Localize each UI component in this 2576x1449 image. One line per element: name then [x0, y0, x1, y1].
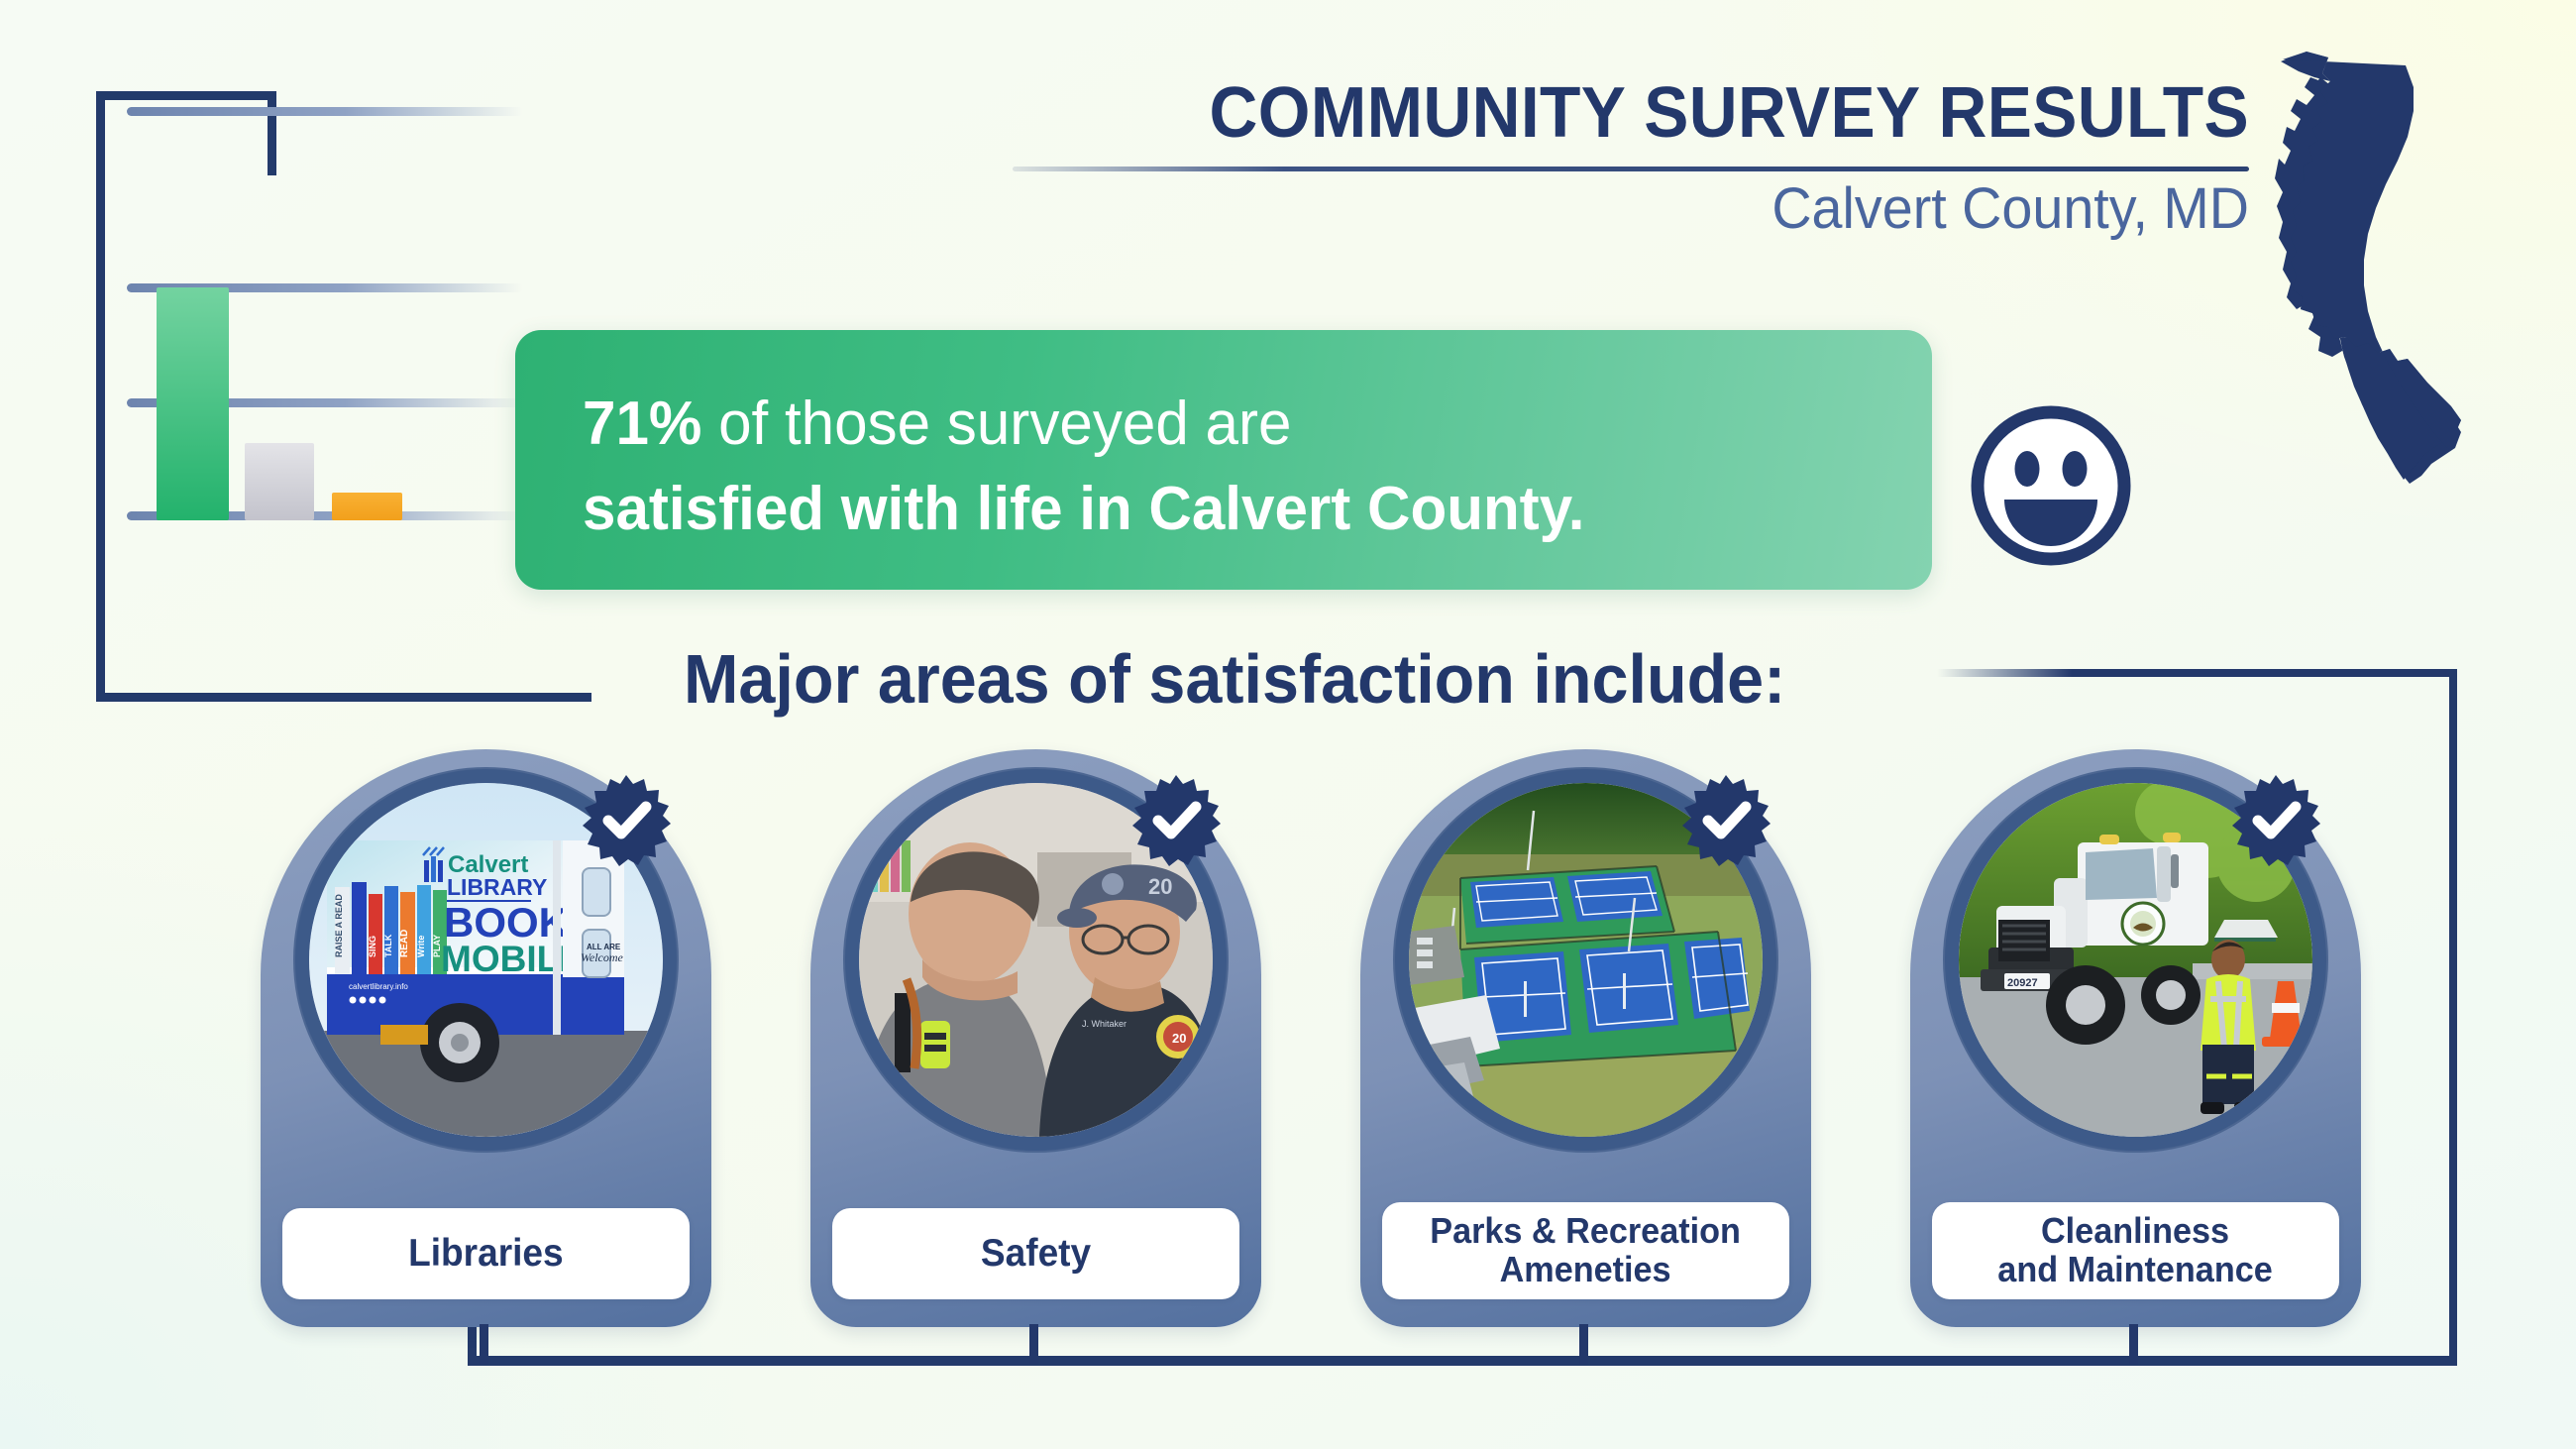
decorative-bar-chart — [119, 139, 545, 634]
gridline-top — [127, 107, 523, 116]
page-title: COMMUNITY SURVEY RESULTS — [1085, 77, 2249, 149]
frame-top-horizontal — [96, 91, 276, 100]
svg-text:RAISE A READ: RAISE A READ — [334, 894, 344, 957]
frame-right-horizontal — [1937, 669, 2457, 677]
svg-text:MOBILE: MOBILE — [441, 939, 584, 979]
card-photo-ring — [1393, 767, 1778, 1153]
card-photo-ring: RAISE A READ SING TALK READ Write PLAY C — [293, 767, 679, 1153]
check-seal-icon — [580, 773, 673, 866]
card-photo-ring: 20 20 J. Whitaker — [843, 767, 1229, 1153]
key-stat-percent: 71% — [583, 390, 701, 458]
svg-text:20927: 20927 — [2007, 977, 2038, 989]
svg-text:READ: READ — [399, 930, 410, 957]
card-label-text: Safety — [968, 1223, 1105, 1284]
svg-text:Welcome: Welcome — [581, 950, 624, 964]
key-stat-line-2: satisfied with life in Calvert County. — [583, 467, 1776, 552]
key-stat-text: 71% of those surveyed are satisfied with… — [583, 382, 1776, 551]
frame-bottom-horizontal — [96, 693, 591, 702]
card-photo-ring: 20927 — [1943, 767, 2328, 1153]
page-subtitle: Calvert County, MD — [1060, 179, 2249, 240]
card-label-parks-recreation: Parks & RecreationAmeneties — [1382, 1202, 1789, 1299]
infographic-canvas: COMMUNITY SURVEY RESULTS Calvert County,… — [0, 0, 2576, 1449]
bar-neutral — [245, 443, 314, 520]
svg-text:TALK: TALK — [383, 934, 393, 957]
calvert-county-map-icon — [2257, 48, 2515, 494]
satisfaction-card-cleanliness-maintenance[interactable]: 20927 — [1910, 749, 2361, 1327]
key-stat-banner: 71% of those surveyed are satisfied with… — [515, 330, 1932, 590]
card-label-text: Parks & RecreationAmeneties — [1404, 1202, 1768, 1299]
svg-text:J. Whitaker: J. Whitaker — [1082, 1019, 1127, 1029]
frame-left-vertical — [96, 91, 105, 702]
svg-text:calvertlibrary.info: calvertlibrary.info — [349, 982, 408, 991]
bottom-rail — [468, 1356, 2457, 1366]
card-label-text: Libraries — [395, 1223, 577, 1284]
svg-text:LIBRARY: LIBRARY — [447, 874, 547, 900]
section-heading: Major areas of satisfaction include: — [684, 639, 1842, 719]
title-divider — [1013, 167, 2249, 171]
header: COMMUNITY SURVEY RESULTS Calvert County,… — [1011, 77, 2249, 240]
card-label-text: Cleanlinessand Maintenance — [1972, 1202, 2300, 1299]
check-seal-icon — [1129, 773, 1223, 866]
key-stat-line-1-rest: of those surveyed are — [701, 390, 1291, 458]
smiley-face-icon — [1967, 401, 2135, 570]
card-stem-safety — [1029, 1324, 1038, 1364]
satisfaction-card-libraries[interactable]: RAISE A READ SING TALK READ Write PLAY C — [261, 749, 711, 1327]
key-stat-line-1: 71% of those surveyed are — [583, 382, 1776, 467]
svg-text:SING: SING — [368, 936, 377, 957]
svg-text:20: 20 — [1172, 1031, 1186, 1046]
svg-text:Write: Write — [416, 936, 426, 957]
bar-satisfied — [157, 287, 229, 520]
check-seal-icon — [2229, 773, 2322, 866]
satisfaction-card-safety[interactable]: 20 20 J. Whitaker — [810, 749, 1261, 1327]
check-seal-icon — [1679, 773, 1772, 866]
bar-dissatisfied — [332, 493, 402, 520]
svg-text:20: 20 — [1148, 874, 1172, 899]
card-stem-libraries — [480, 1324, 488, 1364]
card-label-libraries: Libraries — [282, 1208, 690, 1299]
frame-right-vertical — [2449, 669, 2457, 1363]
card-stem-parks-recreation — [1579, 1324, 1588, 1364]
card-label-cleanliness-maintenance: Cleanlinessand Maintenance — [1932, 1202, 2339, 1299]
card-label-safety: Safety — [832, 1208, 1239, 1299]
card-stem-cleanliness-maintenance — [2129, 1324, 2138, 1364]
satisfaction-card-parks-recreation[interactable]: Parks & RecreationAmeneties — [1360, 749, 1811, 1327]
